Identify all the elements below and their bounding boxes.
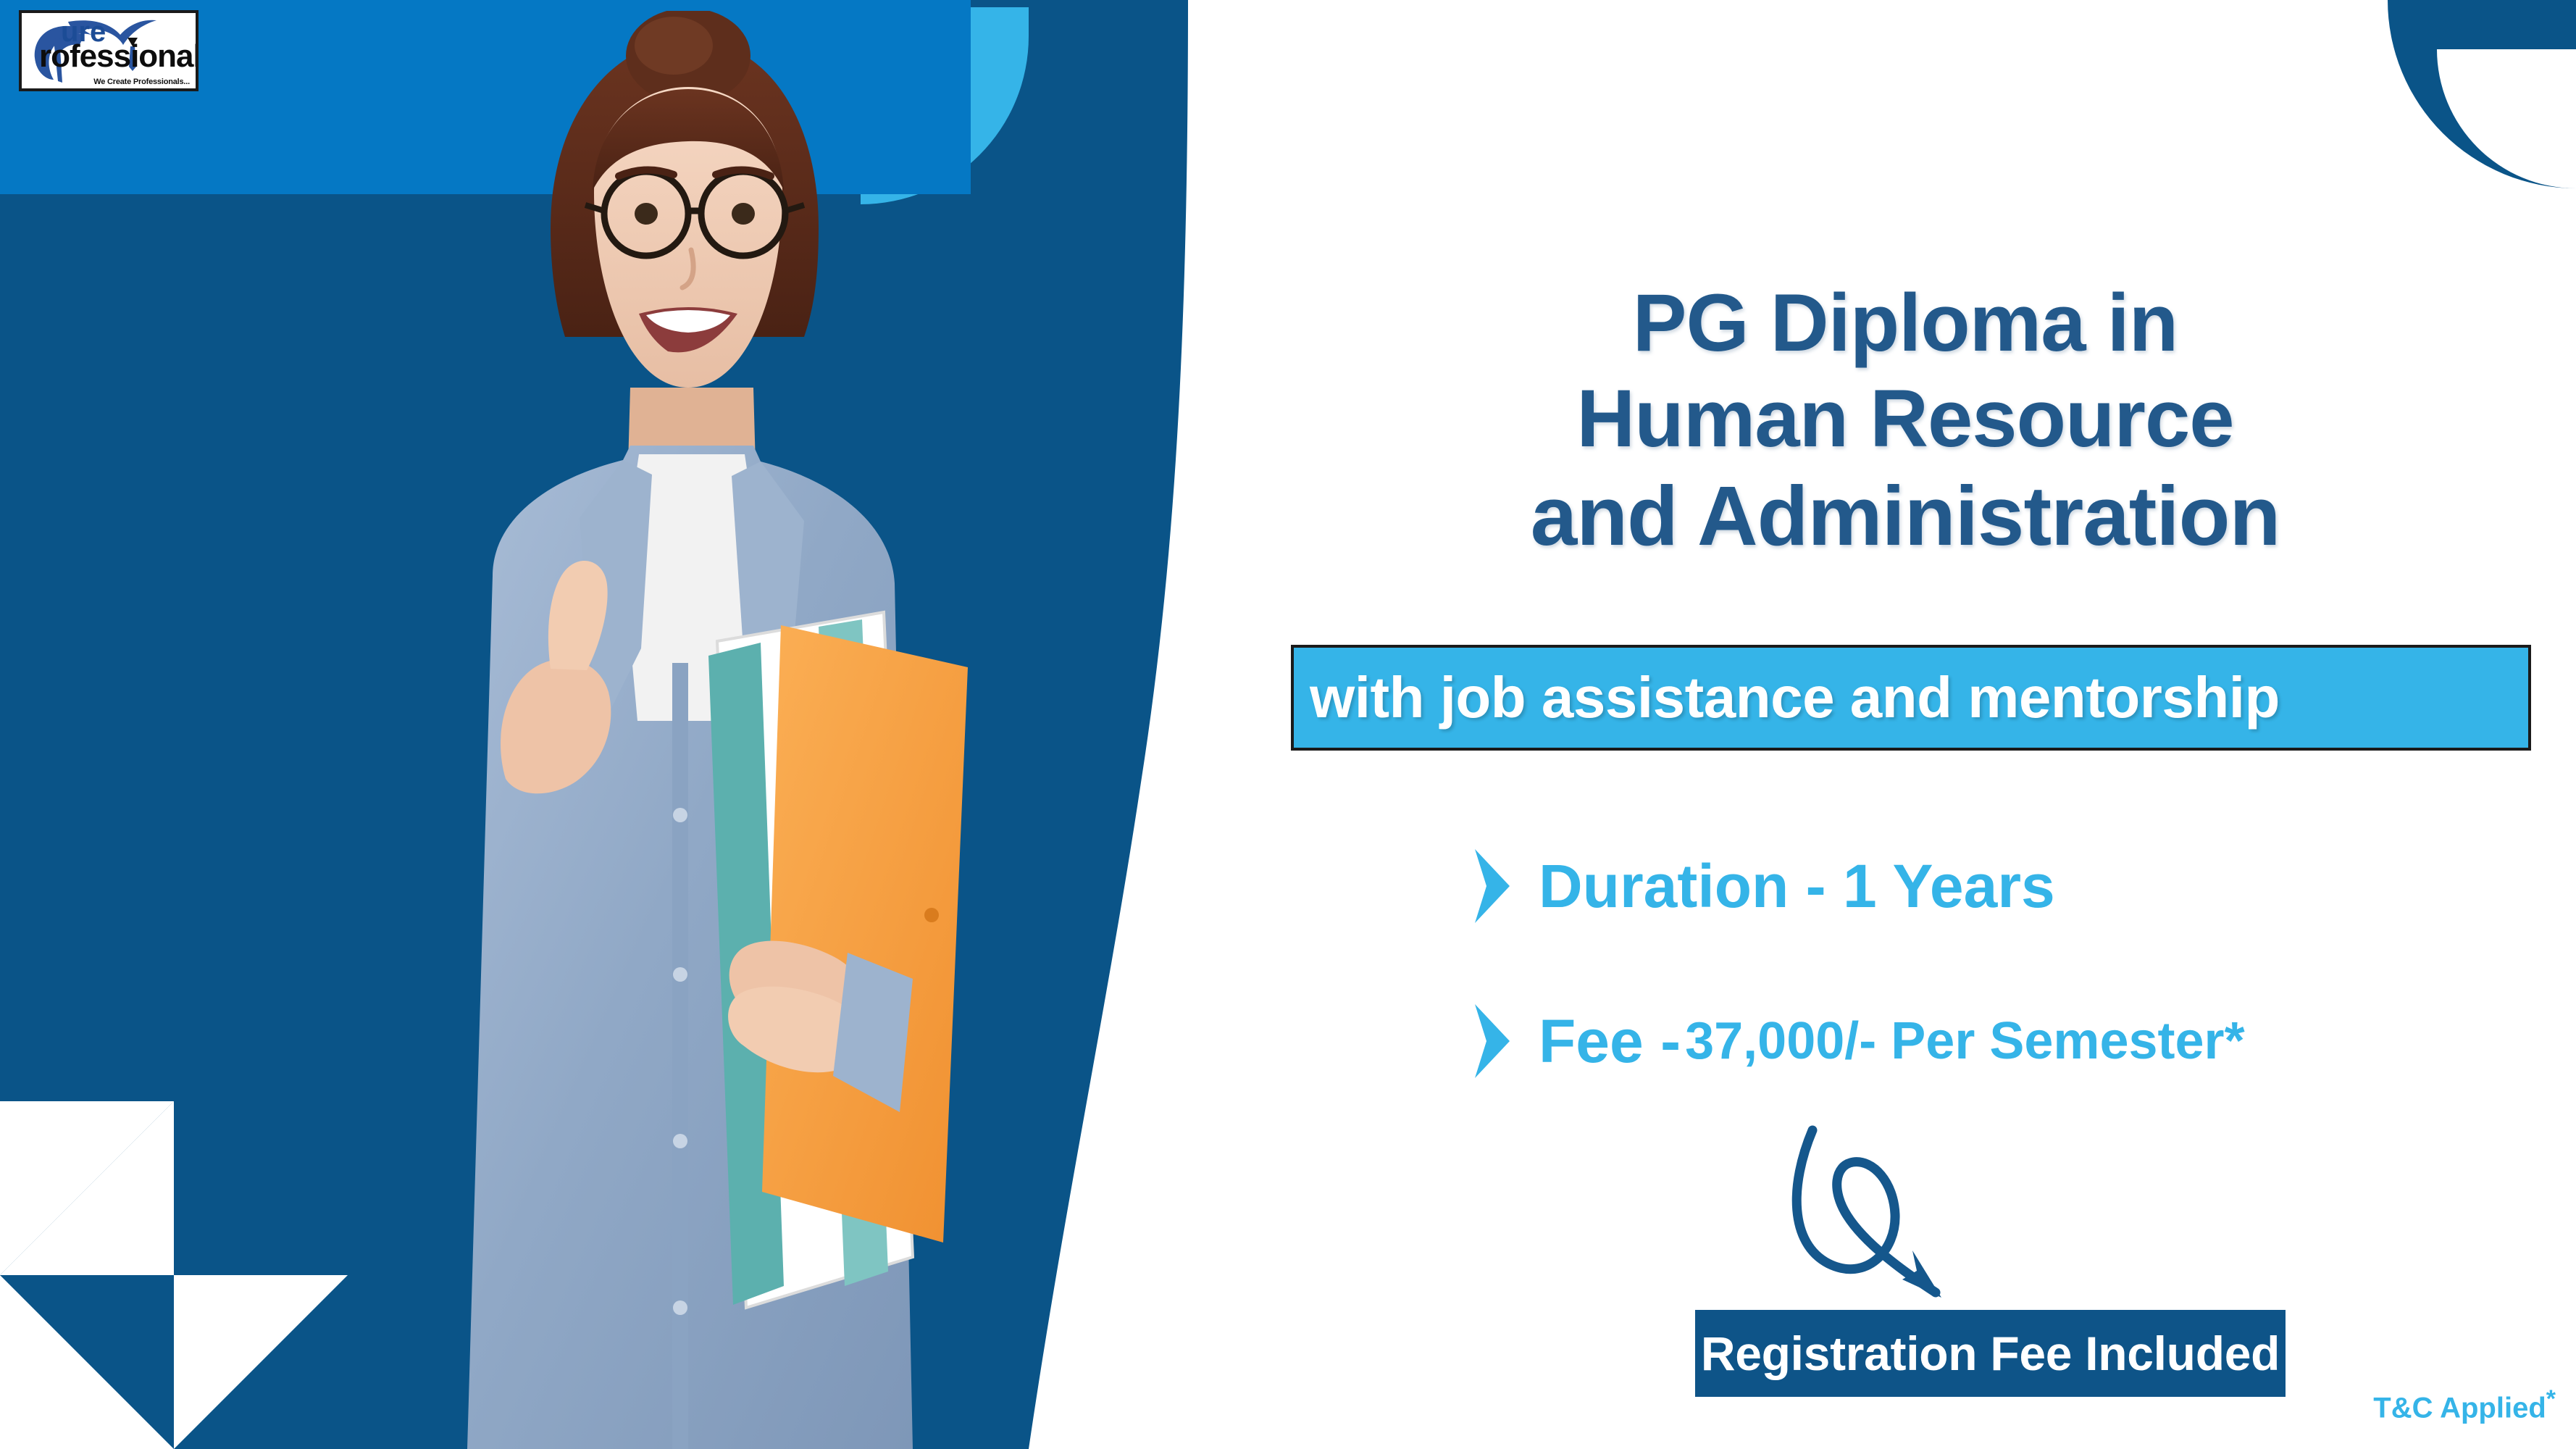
bullet-fee-label: Fee - (1539, 1006, 1681, 1077)
chevron-right-icon (1471, 1001, 1514, 1081)
logo-word-bottom: rofessional (39, 41, 198, 72)
triangle-pattern-decoration (0, 1101, 348, 1449)
bullet-duration: Duration - 1 Years (1471, 846, 2055, 926)
content-column: PG Diploma in Human Resource and Adminis… (1260, 0, 2576, 1449)
page-title: PG Diploma in Human Resource and Adminis… (1260, 275, 2550, 566)
bullet-duration-label: Duration - 1 Years (1539, 851, 2055, 922)
bullet-fee: Fee - 37,000/- Per Semester* (1471, 1001, 2245, 1081)
bullet-fee-amount: 37,000/- Per Semester* (1685, 1011, 2245, 1071)
promo-banner: ure rofessional We Create Professionals.… (0, 0, 2576, 1449)
curly-arrow-icon (1768, 1122, 1978, 1317)
student-photo (311, 11, 1036, 1449)
status-badge: Registration Fee Included (1695, 1310, 2286, 1397)
terms-note-text: T&C Applied (2373, 1392, 2546, 1424)
terms-note-star: * (2546, 1385, 2556, 1413)
logo-tagline: We Create Professionals... (93, 78, 190, 86)
subtitle-text: with job assistance and mentorship (1310, 664, 2280, 731)
badge-label: Registration Fee Included (1701, 1326, 2280, 1381)
brand-logo[interactable]: ure rofessional We Create Professionals.… (19, 10, 198, 91)
left-visual-panel: ure rofessional We Create Professionals.… (0, 0, 1231, 1449)
subtitle-banner: with job assistance and mentorship (1291, 645, 2531, 751)
headline-line-1: PG Diploma in (1260, 275, 2550, 371)
headline-line-3: and Administration (1260, 467, 2550, 566)
terms-note: T&C Applied* (2373, 1385, 2556, 1424)
chevron-right-icon (1471, 846, 1514, 926)
headline-line-2: Human Resource (1260, 371, 2550, 467)
